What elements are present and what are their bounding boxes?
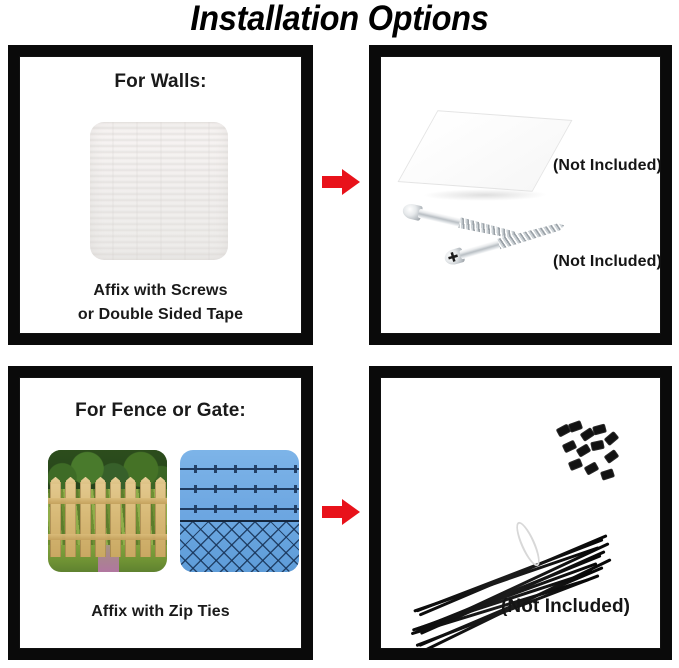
black-zip-tie-bundle-image	[403, 416, 631, 586]
panel-for-fence-or-gate-inner: For Fence or Gate:	[19, 377, 302, 649]
barbed-wire-strand-1	[180, 468, 299, 470]
tape-slab-top	[398, 110, 573, 192]
screw-thread-lower	[497, 219, 566, 250]
phillips-cross-icon: ✚	[446, 250, 460, 264]
zip-tie-binding-band	[512, 519, 544, 569]
panel-zip-ties: (Not Included)	[369, 366, 672, 660]
chain-link-fence-image	[180, 450, 299, 572]
arrow-head	[342, 499, 360, 525]
page-title: Installation Options	[24, 0, 655, 40]
tape-not-included-label: (Not Included)	[553, 157, 661, 175]
for-fence-caption: Affix with Zip Ties	[20, 600, 301, 624]
tape-shadow	[420, 189, 550, 201]
screw-not-included-label: (Not Included)	[553, 253, 661, 271]
arrow-shaft	[322, 506, 344, 518]
red-right-arrow-icon-top	[322, 169, 360, 195]
for-walls-heading: For Walls:	[20, 71, 301, 93]
for-walls-caption-line-1: Affix with Screws	[20, 279, 301, 303]
zip-ties-not-included-label: (Not Included)	[501, 596, 630, 618]
panel-wall-hardware-inner: (Not Included) ✚ (Not Included)	[380, 56, 661, 334]
zip-tie-heads	[555, 422, 629, 488]
red-right-arrow-icon-bottom	[322, 499, 360, 525]
for-fence-heading: For Fence or Gate:	[20, 400, 301, 422]
white-brick-wall-swatch-image	[90, 122, 228, 260]
double-sided-tape-stack-image	[415, 115, 567, 210]
wooden-picket-fence-image	[48, 450, 167, 572]
panel-for-walls-inner: For Walls: Affix with Screws or Double S…	[19, 56, 302, 334]
for-walls-caption-line-2: or Double Sided Tape	[20, 303, 301, 327]
barbed-wire-strand-3	[180, 508, 299, 510]
panel-for-fence-or-gate: For Fence or Gate:	[8, 366, 313, 660]
arrow-shaft	[322, 176, 344, 188]
panel-for-walls: For Walls: Affix with Screws or Double S…	[8, 45, 313, 345]
wood-photo-pickets	[48, 482, 167, 558]
barbed-wire-strand-2	[180, 488, 299, 490]
panel-zip-ties-inner: (Not Included)	[380, 377, 661, 649]
panel-wall-hardware: (Not Included) ✚ (Not Included)	[369, 45, 672, 345]
installation-options-infographic: Installation Options For Walls: Affix wi…	[0, 0, 679, 668]
chain-link-mesh	[180, 522, 299, 572]
arrow-head	[342, 169, 360, 195]
